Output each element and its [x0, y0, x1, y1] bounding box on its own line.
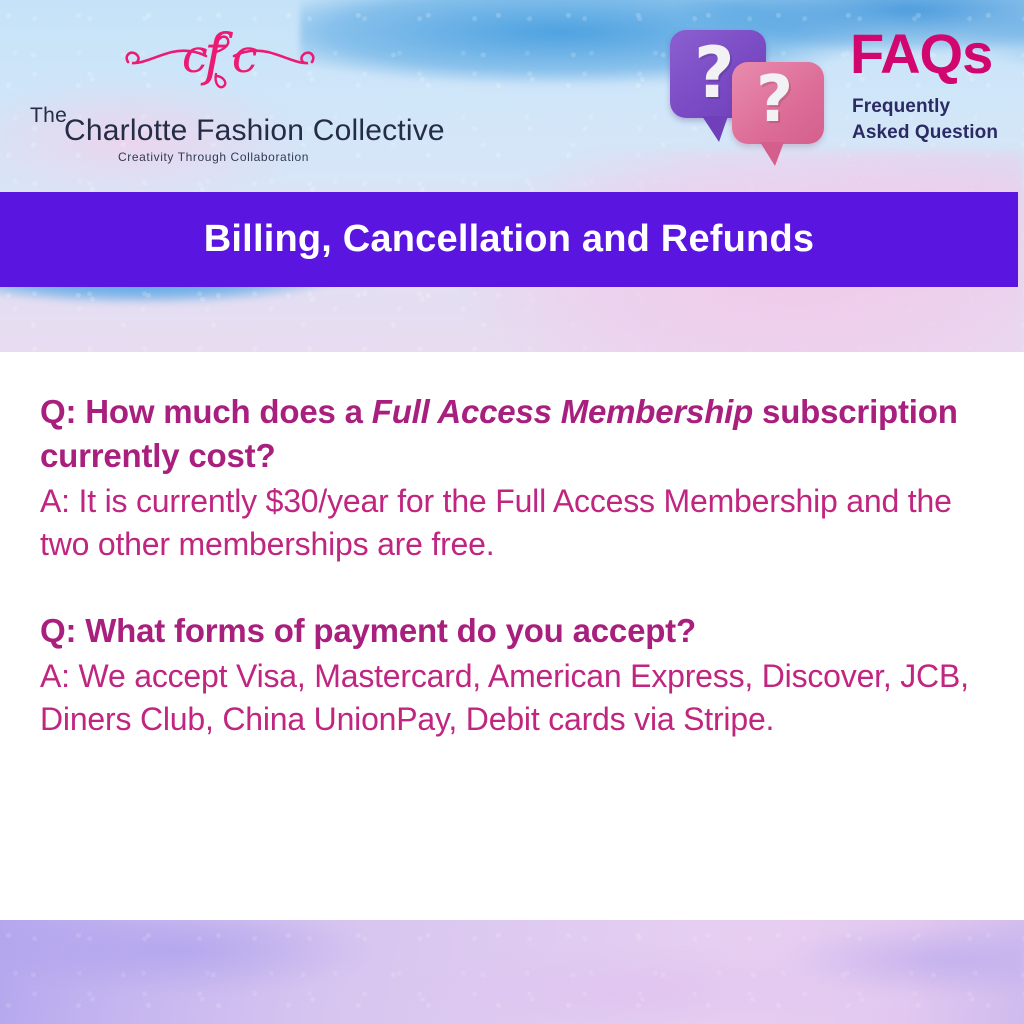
speech-bubble-pink-icon: ?	[732, 62, 824, 144]
faq-content-area: Q: How much does a Full Access Membershi…	[0, 352, 1024, 920]
speech-bubble-tail-purple-icon	[702, 116, 728, 142]
svg-text:c: c	[232, 29, 258, 83]
faq-answer: A: We accept Visa, Mastercard, American …	[40, 655, 988, 742]
faq-subtitle-line-1: Frequently	[852, 96, 950, 118]
logo-company-name: Charlotte Fashion Collective	[64, 114, 445, 148]
bottom-watercolor-band	[0, 920, 1024, 1024]
logo-the-word: The	[30, 104, 67, 128]
section-title-bar: Billing, Cancellation and Refunds	[0, 192, 1018, 287]
section-title-text: Billing, Cancellation and Refunds	[204, 218, 814, 261]
faq-question-prefix: Q: What forms of payment do you accept?	[40, 612, 696, 649]
qa-block: Q: How much does a Full Access Membershi…	[40, 390, 988, 567]
svg-text:f: f	[200, 28, 234, 88]
faq-answer: A: It is currently $30/year for the Full…	[40, 480, 988, 567]
faq-question-prefix: Q: How much does a	[40, 393, 372, 430]
qa-block: Q: What forms of payment do you accept? …	[40, 609, 988, 742]
faq-subtitle-line-2: Asked Question	[852, 122, 998, 144]
faq-question-emphasis: Full Access Membership	[372, 393, 753, 430]
cfc-monogram-icon: c f c	[120, 28, 320, 92]
speech-bubble-tail-pink-icon	[760, 142, 784, 166]
faq-question: Q: What forms of payment do you accept?	[40, 609, 988, 653]
question-mark-icon: ?	[756, 68, 793, 132]
faq-graphic-canvas: c f c The Charlotte Fashion Collective C…	[0, 0, 1024, 1024]
faq-question: Q: How much does a Full Access Membershi…	[40, 390, 988, 478]
faq-badge: ? ? FAQs Frequently Asked Question	[670, 18, 1016, 158]
faq-title: FAQs	[850, 26, 992, 82]
logo-tagline: Creativity Through Collaboration	[118, 150, 309, 164]
question-mark-icon: ?	[694, 38, 735, 108]
brand-logo: c f c The Charlotte Fashion Collective C…	[18, 28, 398, 148]
watercolor-texture-overlay	[0, 920, 1024, 1024]
